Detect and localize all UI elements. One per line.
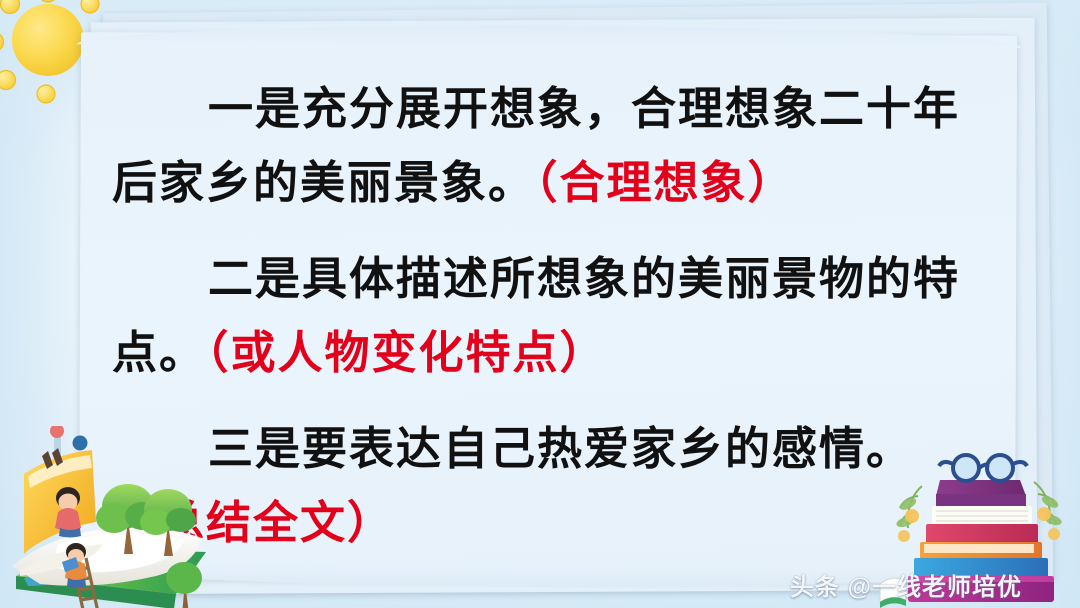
glasses-icon bbox=[939, 455, 1027, 481]
slide-text-content: 一是充分展开想象，合理想象二十年后家乡的美丽景象。（合理想象） 二是具体描述所想… bbox=[112, 72, 984, 542]
paragraph-one: 一是充分展开想象，合理想象二十年后家乡的美丽景象。（合理想象） bbox=[112, 72, 984, 220]
open-book-illustration bbox=[6, 426, 236, 608]
paragraph-three-black: 三是要表达自己热爱家乡的感情。 bbox=[208, 424, 913, 474]
slide-canvas: 一是充分展开想象，合理想象二十年后家乡的美丽景象。（合理想象） 二是具体描述所想… bbox=[0, 0, 1080, 608]
paragraph-three: 三是要表达自己热爱家乡的感情。（总结全文） bbox=[112, 412, 984, 560]
watermark-text: 头条 @一线老师培优 bbox=[790, 567, 1022, 602]
paragraph-one-red: （合理想象） bbox=[535, 158, 795, 208]
paragraph-two-red: （或人物变化特点） bbox=[206, 328, 607, 378]
paragraph-two: 二是具体描述所想象的美丽景物的特点。（或人物变化特点） bbox=[112, 242, 984, 390]
